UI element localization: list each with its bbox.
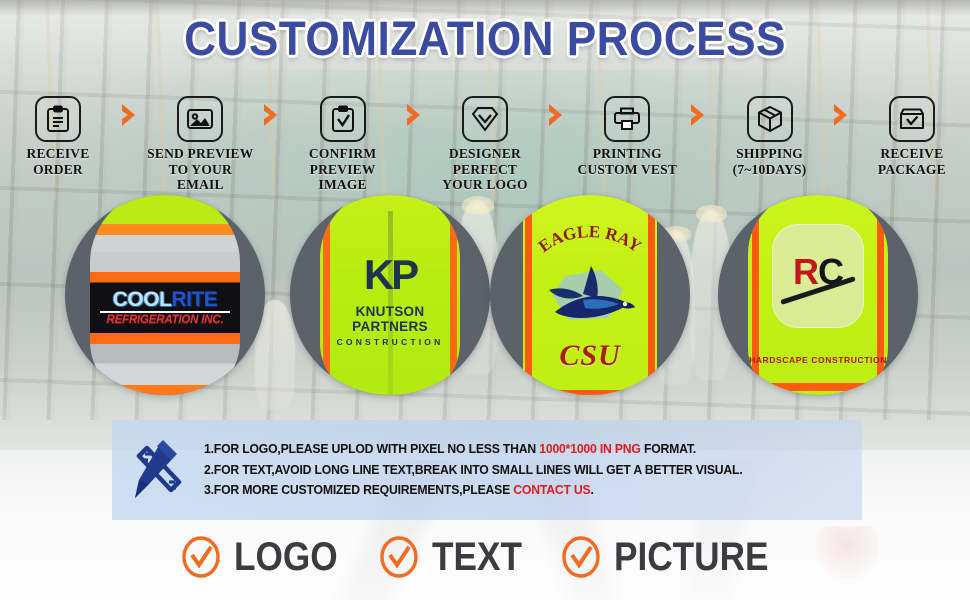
pencil-ruler-icon bbox=[112, 438, 204, 502]
step-label-line1: SEND PREVIEW bbox=[146, 146, 254, 162]
step-label-line2: YOUR LOGO bbox=[431, 177, 539, 193]
knutson-vest-image: KP KNUTSON PARTNERS CONSTRUCTION bbox=[320, 195, 460, 395]
requirement-item: 3.FOR MORE CUSTOMIZED REQUIREMENTS,PLEAS… bbox=[204, 484, 829, 497]
chevron-right-icon bbox=[112, 96, 146, 128]
step-label-line1: CONFIRM bbox=[289, 146, 397, 162]
note-post: . bbox=[591, 483, 594, 497]
image-icon bbox=[177, 96, 223, 142]
chevron-right-icon bbox=[539, 96, 573, 128]
step-label-line2: CUSTOM VEST bbox=[573, 162, 681, 178]
deliverable-picture: PICTURE bbox=[560, 535, 790, 580]
coolrite-subtitle: REFRIGERATION INC. bbox=[90, 314, 240, 326]
printer-icon bbox=[604, 96, 650, 142]
page-title-container: CUSTOMIZATION PROCESS bbox=[0, 12, 970, 67]
step-label-line1: PRINTING bbox=[573, 146, 681, 162]
step-label-line2: PREVIEW IMAGE bbox=[289, 162, 397, 193]
eagle-ray-arc-text: EAGLE RAY bbox=[523, 219, 657, 259]
rc-subtitle: HARDSCAPE CONSTRUCTION bbox=[748, 355, 888, 365]
note-pre: 2.FOR TEXT,AVOID LONG LINE TEXT,BREAK IN… bbox=[204, 463, 743, 477]
note-pre: 3.FOR MORE CUSTOMIZED REQUIREMENTS,PLEAS… bbox=[204, 483, 513, 497]
sample-circle-knutson[interactable]: KP KNUTSON PARTNERS CONSTRUCTION bbox=[290, 195, 490, 395]
diamond-chevron-icon bbox=[462, 96, 508, 142]
clipboard-icon bbox=[35, 96, 81, 142]
requirement-item: 1.FOR LOGO,PLEASE UPLOD WITH PIXEL NO LE… bbox=[204, 443, 829, 456]
deliverable-logo: LOGO bbox=[180, 535, 352, 580]
eagle-ray-fish-icon bbox=[539, 260, 641, 337]
step-printing-custom-vest: PRINTING CUSTOM VEST bbox=[573, 96, 681, 177]
step-confirm-preview: CONFIRM PREVIEW IMAGE bbox=[289, 96, 397, 193]
chevron-right-icon bbox=[681, 96, 715, 128]
page-title: CUSTOMIZATION PROCESS bbox=[184, 12, 786, 67]
eagle-ray-arc-label: EAGLE RAY bbox=[535, 222, 645, 256]
coolrite-brand-a: COOL bbox=[113, 288, 172, 311]
coolrite-brand-b: RITE bbox=[171, 288, 217, 311]
step-label-line1: RECEIVE bbox=[4, 146, 112, 162]
requirements-panel: 1.FOR LOGO,PLEASE UPLOD WITH PIXEL NO LE… bbox=[112, 420, 862, 520]
chevron-right-icon bbox=[824, 96, 858, 128]
csu-label: CSU bbox=[523, 339, 657, 373]
step-shipping: SHIPPING (7~10DAYS) bbox=[716, 96, 824, 177]
chevron-right-icon bbox=[397, 96, 431, 128]
step-receive-order: RECEIVE ORDER bbox=[4, 96, 112, 177]
step-designer-perfect-logo: DESIGNER PERFECT YOUR LOGO bbox=[431, 96, 539, 193]
knutson-subtitle: CONSTRUCTION bbox=[320, 337, 460, 347]
svg-text:EAGLE RAY: EAGLE RAY bbox=[535, 222, 645, 256]
knutson-monogram: KP bbox=[320, 254, 460, 296]
deliverable-label: PICTURE bbox=[614, 535, 769, 580]
rc-monogram-r: R bbox=[793, 251, 818, 292]
deliverables-row: LOGO TEXT PICTURE bbox=[0, 522, 970, 592]
step-receive-package: RECEIVE PACKAGE bbox=[858, 96, 966, 177]
step-label-line1: DESIGNER PERFECT bbox=[431, 146, 539, 177]
check-circle-icon bbox=[560, 536, 602, 578]
sample-circle-rc-hardscape[interactable]: RC HARDSCAPE CONSTRUCTION bbox=[718, 195, 918, 395]
requirement-item: 2.FOR TEXT,AVOID LONG LINE TEXT,BREAK IN… bbox=[204, 464, 829, 477]
box-check-icon bbox=[889, 96, 935, 142]
clipboard-check-icon bbox=[320, 96, 366, 142]
poster-canvas: CUSTOMIZATION PROCESS RECEIVE ORDER bbox=[0, 0, 970, 600]
step-label-line2: ORDER bbox=[4, 162, 112, 178]
step-label-line2: PACKAGE bbox=[858, 162, 966, 178]
deliverable-text: TEXT bbox=[378, 535, 534, 580]
step-label-line1: RECEIVE bbox=[858, 146, 966, 162]
rc-vest-image: RC HARDSCAPE CONSTRUCTION bbox=[748, 195, 888, 395]
eagle-ray-vest-image: EAGLE RAY CSU bbox=[523, 195, 657, 395]
step-label-line2: (7~10DAYS) bbox=[716, 162, 824, 178]
sample-circle-coolrite[interactable]: COOLRITE REFRIGERATION INC. bbox=[65, 195, 265, 395]
note-highlight-contact-us[interactable]: CONTACT US bbox=[513, 483, 590, 497]
process-steps: RECEIVE ORDER SEND PREVIEW TO YOUR EMAIL bbox=[0, 96, 970, 192]
note-post: FORMAT. bbox=[641, 442, 696, 456]
check-circle-icon bbox=[180, 536, 222, 578]
note-highlight: 1000*1000 IN PNG bbox=[539, 442, 640, 456]
deliverable-label: LOGO bbox=[234, 535, 338, 580]
sample-gallery: COOLRITE REFRIGERATION INC. KP KNUTSON P… bbox=[0, 195, 970, 400]
sample-circle-eagle-ray[interactable]: EAGLE RAY CSU bbox=[490, 195, 690, 395]
check-circle-icon bbox=[378, 536, 420, 578]
coolrite-vest-image: COOLRITE REFRIGERATION INC. bbox=[90, 195, 240, 395]
box-3d-icon bbox=[747, 96, 793, 142]
step-send-preview: SEND PREVIEW TO YOUR EMAIL bbox=[146, 96, 254, 193]
requirements-list: 1.FOR LOGO,PLEASE UPLOD WITH PIXEL NO LE… bbox=[204, 436, 862, 505]
step-label-line1: SHIPPING bbox=[716, 146, 824, 162]
note-pre: 1.FOR LOGO,PLEASE UPLOD WITH PIXEL NO LE… bbox=[204, 442, 539, 456]
chevron-right-icon bbox=[254, 96, 288, 128]
deliverable-label: TEXT bbox=[432, 535, 522, 580]
step-label-line2: TO YOUR EMAIL bbox=[146, 162, 254, 193]
knutson-brand: KNUTSON PARTNERS bbox=[320, 304, 460, 334]
